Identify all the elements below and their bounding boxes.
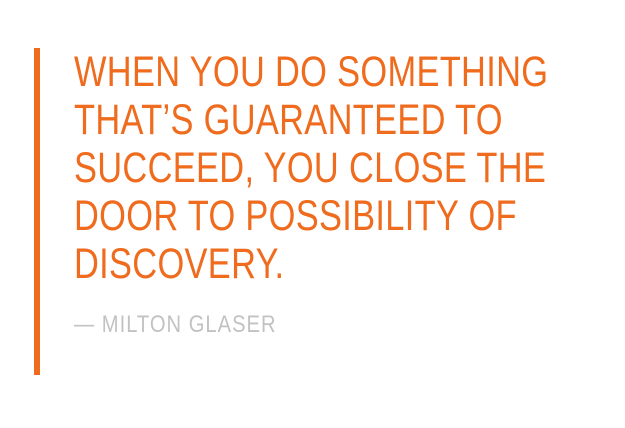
quote-line-1: WHEN YOU DO SOMETHING — [74, 48, 490, 96]
accent-bar — [34, 48, 40, 375]
quote-line-3: SUCCEED, YOU CLOSE THE — [74, 144, 490, 192]
quote-block: WHEN YOU DO SOMETHING THAT’S GUARANTEED … — [74, 48, 594, 288]
quote-line-5: DISCOVERY. — [74, 240, 490, 288]
quote-line-4: DOOR TO POSSIBILITY OF — [74, 192, 490, 240]
quote-card: WHEN YOU DO SOMETHING THAT’S GUARANTEED … — [0, 0, 625, 428]
quote-line-2: THAT’S GUARANTEED TO — [74, 96, 490, 144]
quote-attribution: — MILTON GLASER — [74, 311, 277, 339]
quote-text: WHEN YOU DO SOMETHING THAT’S GUARANTEED … — [74, 48, 594, 288]
